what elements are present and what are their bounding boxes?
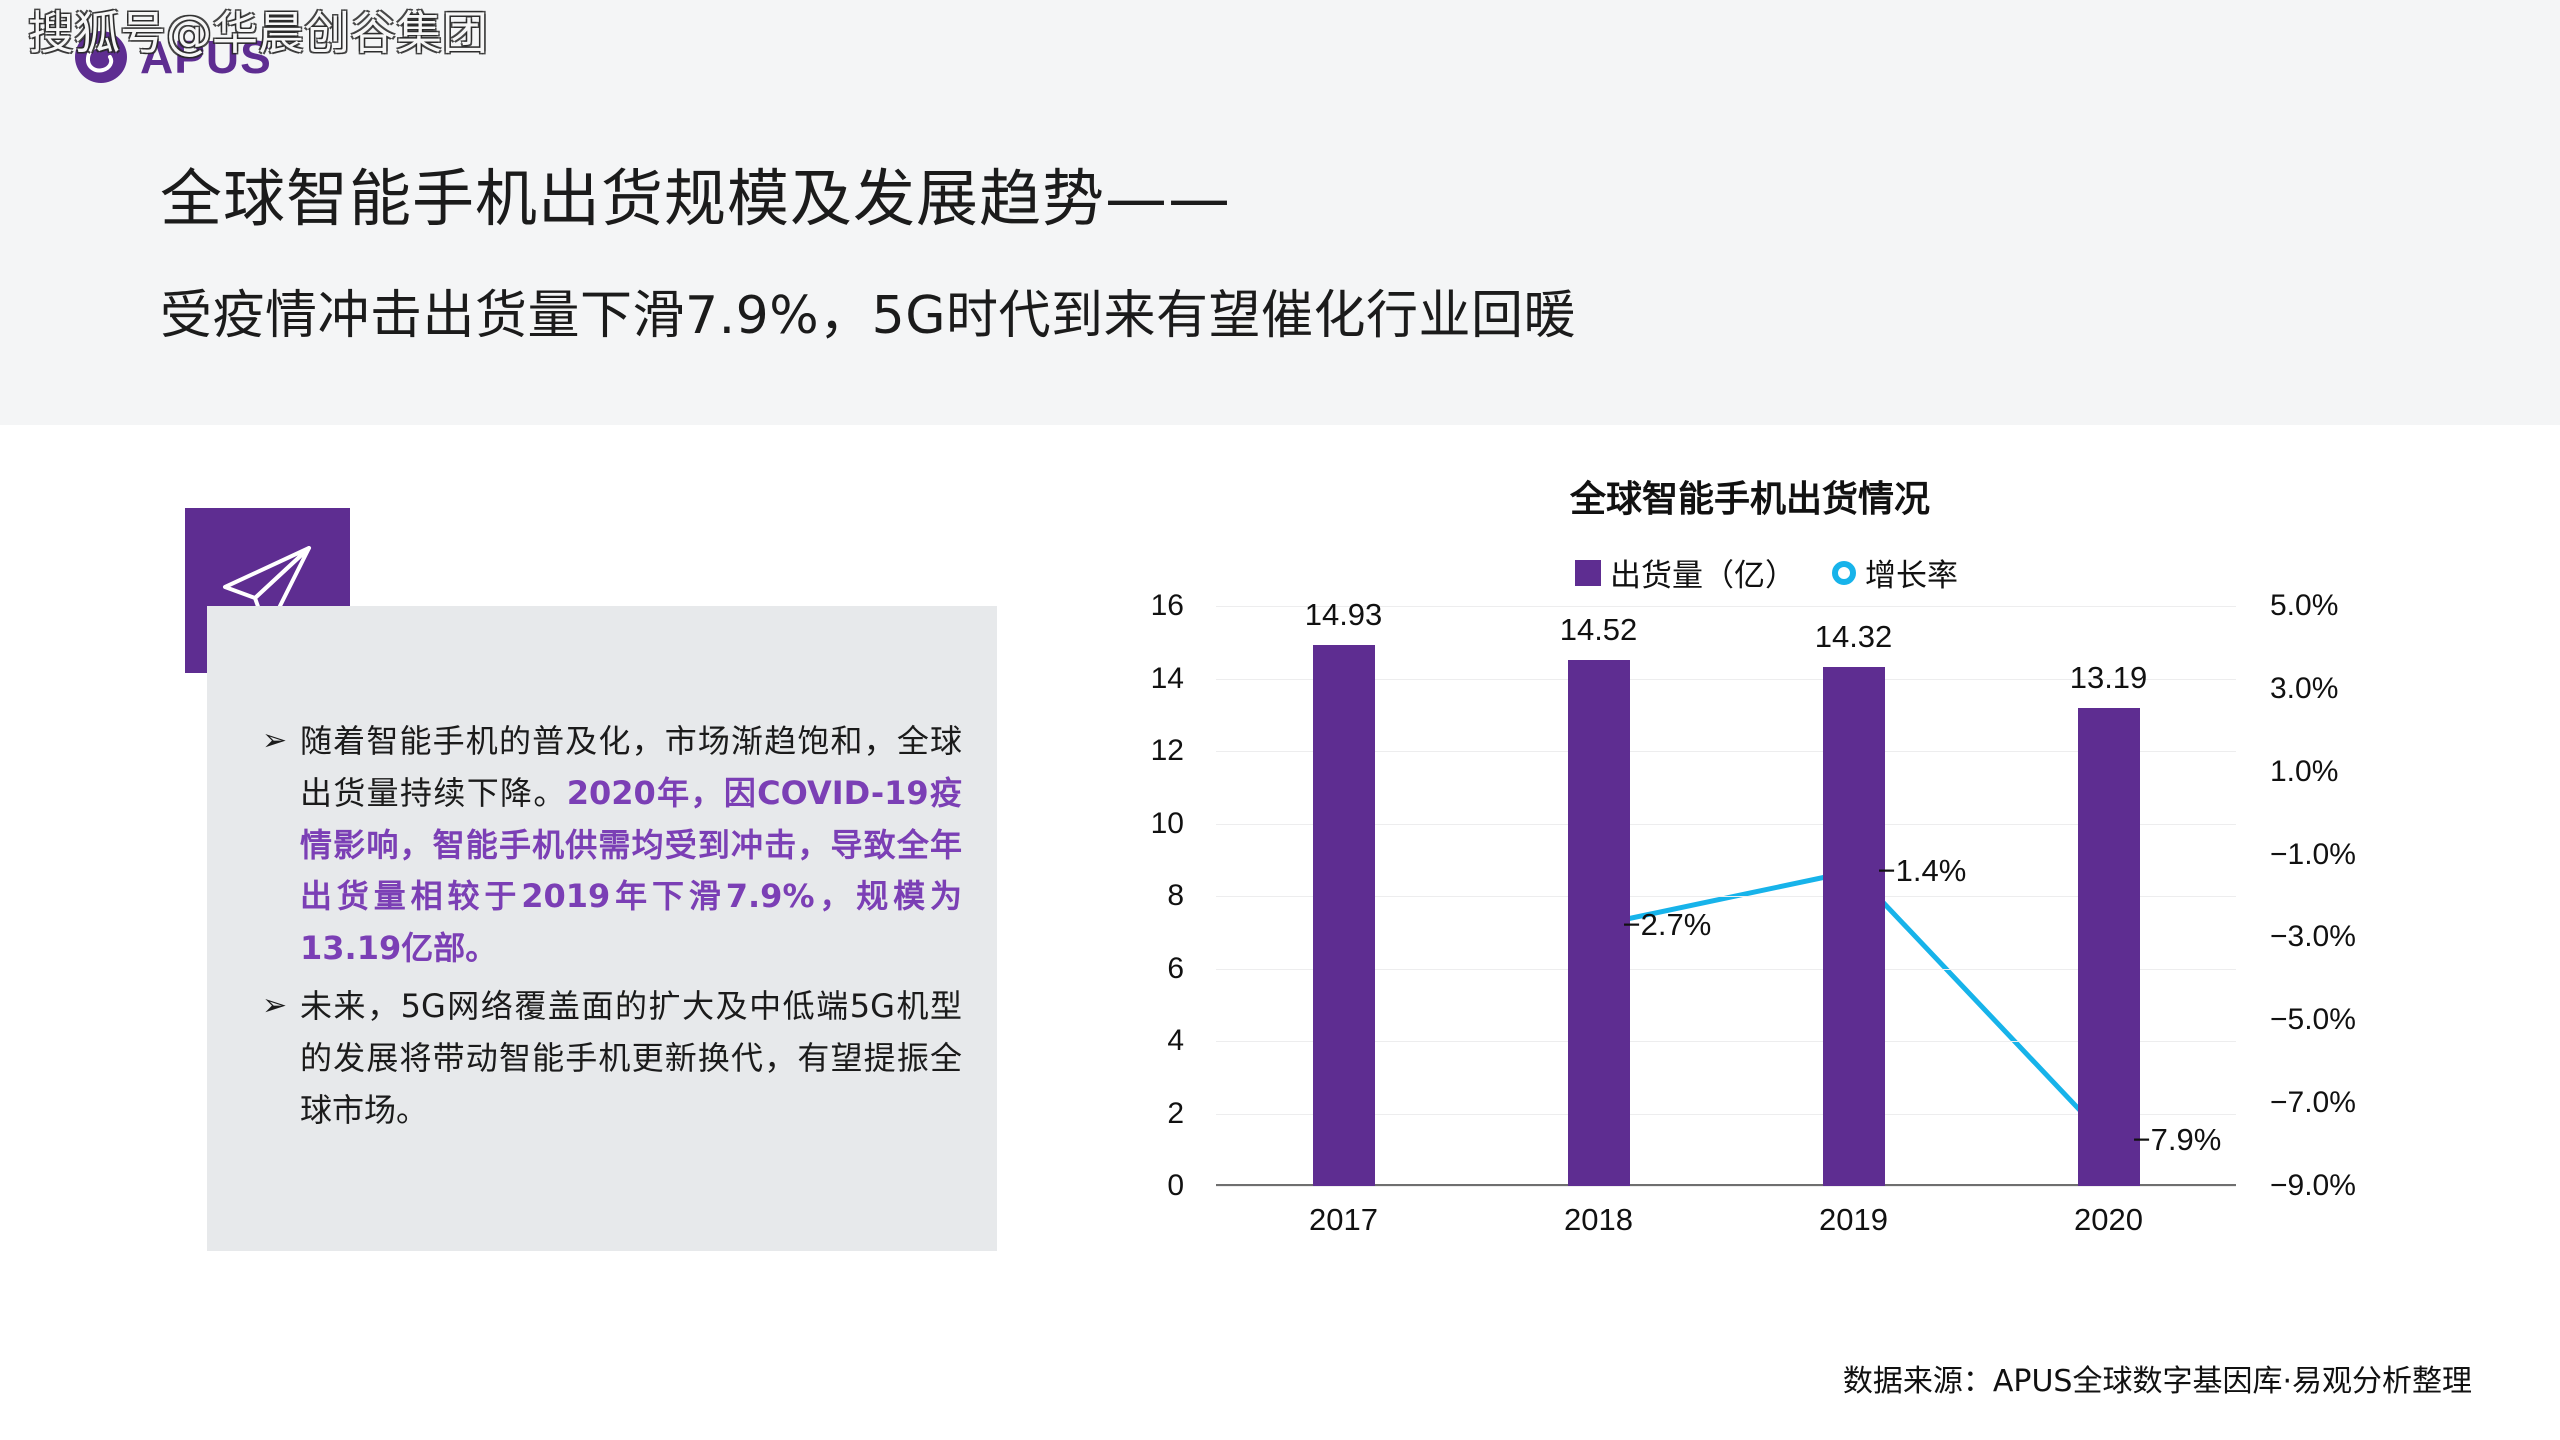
y-axis-tick-label: 12 — [1151, 734, 1184, 768]
legend-bar-swatch-icon — [1575, 560, 1601, 586]
brand-logo: APUS — [72, 28, 272, 86]
legend-item-shipments: 出货量（亿） — [1575, 550, 1796, 595]
x-axis-tick-2020: 2020 — [2074, 1202, 2143, 1238]
growth-value-label: −7.9% — [2133, 1122, 2222, 1158]
arrow-bullet-icon: ➢ — [262, 982, 287, 1031]
legend-label-shipments: 出货量（亿） — [1610, 550, 1796, 595]
y-axis-tick-label: 6 — [1167, 952, 1184, 986]
insight-bullet-list: ➢随着智能手机的普及化，市场渐趋饱和，全球出货量持续下降。2020年，因COVI… — [262, 716, 962, 1143]
bar-2018[interactable] — [1568, 660, 1630, 1186]
y2-axis-tick-label: −9.0% — [2270, 1169, 2356, 1203]
y2-axis-tick-label: −3.0% — [2270, 920, 2356, 954]
arrow-bullet-icon: ➢ — [262, 717, 287, 766]
page-subtitle: 受疫情冲击出货量下滑7.9%，5G时代到来有望催化行业回暖 — [160, 290, 1576, 342]
chart-legend: 出货量（亿） 增长率 — [1575, 550, 1958, 595]
apus-swirl-icon — [72, 28, 130, 86]
bar-value-label: 14.52 — [1560, 612, 1638, 648]
y-axis-tick-label: 8 — [1167, 879, 1184, 913]
legend-item-growth: 增长率 — [1832, 550, 1958, 595]
y2-axis-tick-label: −7.0% — [2270, 1086, 2356, 1120]
y-axis-tick-label: 4 — [1167, 1024, 1184, 1058]
y2-axis-tick-label: −5.0% — [2270, 1003, 2356, 1037]
x-axis-tick-2018: 2018 — [1564, 1202, 1633, 1238]
chart-title: 全球智能手机出货情况 — [1570, 470, 1930, 522]
bar-2019[interactable] — [1823, 667, 1885, 1186]
y2-axis-tick-label: −1.0% — [2270, 838, 2356, 872]
y2-axis-tick-label: 3.0% — [2270, 672, 2338, 706]
page-title: 全球智能手机出货规模及发展趋势—— — [160, 168, 1231, 230]
list-item: ➢未来，5G网络覆盖面的扩大及中低端5G机型的发展将带动智能手机更新换代，有望提… — [262, 981, 962, 1136]
y-axis-tick-label: 10 — [1151, 807, 1184, 841]
bar-value-label: 14.32 — [1815, 619, 1893, 655]
bar-value-label: 14.93 — [1305, 597, 1383, 633]
brand-logo-text: APUS — [140, 34, 272, 80]
bullet-text-plain: 未来，5G网络覆盖面的扩大及中低端5G机型的发展将带动智能手机更新换代，有望提振… — [300, 987, 962, 1129]
slide-root: APUS 搜狐号@华晨创谷集团 全球智能手机出货规模及发展趋势—— 受疫情冲击出… — [0, 0, 2560, 1440]
y2-axis-tick-label: 5.0% — [2270, 589, 2338, 623]
chart-plot-area: 02468101214165.0%3.0%1.0%−1.0%−3.0%−5.0%… — [1216, 606, 2236, 1186]
y-axis-tick-label: 2 — [1167, 1097, 1184, 1131]
bar-2017[interactable] — [1313, 645, 1375, 1186]
bar-value-label: 13.19 — [2070, 660, 2148, 696]
growth-value-label: −2.7% — [1623, 907, 1712, 943]
legend-label-growth: 增长率 — [1865, 550, 1958, 595]
y-axis-tick-label: 16 — [1151, 589, 1184, 623]
x-axis-tick-2019: 2019 — [1819, 1202, 1888, 1238]
list-item: ➢随着智能手机的普及化，市场渐趋饱和，全球出货量持续下降。2020年，因COVI… — [262, 716, 962, 975]
y2-axis-tick-label: 1.0% — [2270, 755, 2338, 789]
grid-line — [1216, 1186, 2236, 1187]
growth-value-label: −1.4% — [1878, 853, 1967, 889]
y-axis-tick-label: 0 — [1167, 1169, 1184, 1203]
chart-source-note: 数据来源：APUS全球数字基因库·易观分析整理 — [1843, 1356, 2472, 1400]
y-axis-tick-label: 14 — [1151, 662, 1184, 696]
bar-2020[interactable] — [2078, 708, 2140, 1186]
header-band: APUS 搜狐号@华晨创谷集团 全球智能手机出货规模及发展趋势—— 受疫情冲击出… — [0, 0, 2560, 425]
x-axis-tick-2017: 2017 — [1309, 1202, 1378, 1238]
legend-circle-swatch-icon — [1832, 561, 1856, 585]
